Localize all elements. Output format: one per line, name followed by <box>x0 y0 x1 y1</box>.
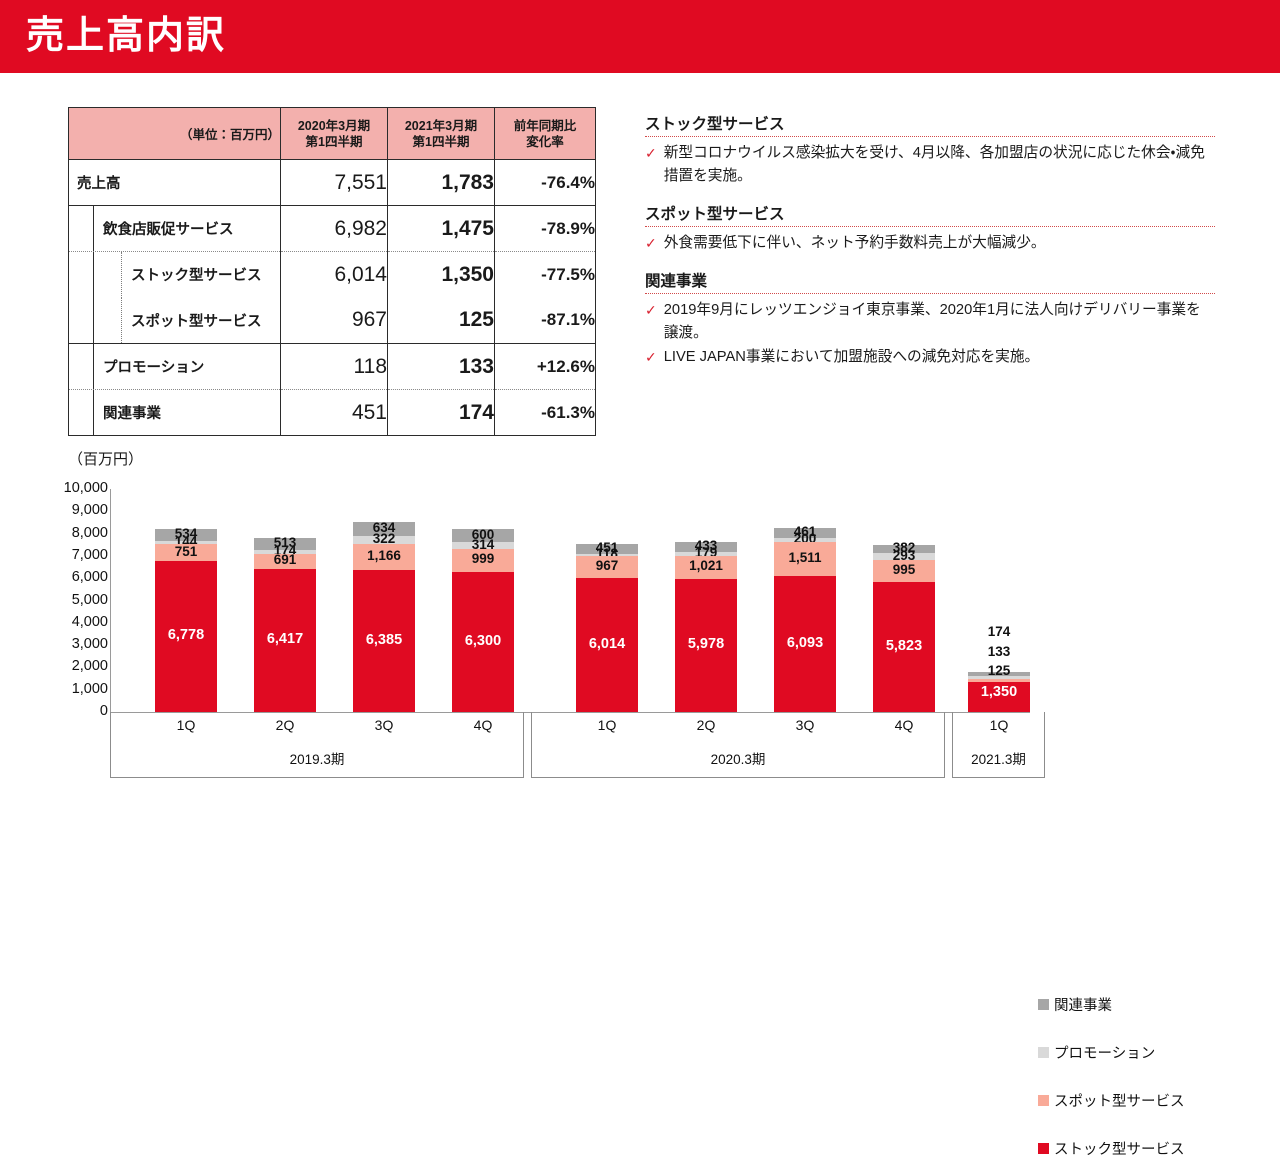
indent-guide-2 <box>121 298 122 344</box>
legend-color-swatch <box>1038 1095 1049 1106</box>
y-axis-tick: 6,000 <box>18 569 108 585</box>
legend-label: プロモーション <box>1054 1042 1155 1063</box>
cell-prev-year: 7,551 <box>281 160 388 206</box>
col-header-line2: 変化率 <box>495 134 595 150</box>
bar-segment: 6,014 <box>576 578 638 712</box>
cell-yoy-change: -61.3% <box>495 390 596 436</box>
bar-value-label: 1,511 <box>774 550 836 565</box>
bar-value-label: 125 <box>968 663 1030 678</box>
bar-segment: 322 <box>353 536 415 543</box>
table-row-label: 飲食店販促サービス <box>69 206 281 252</box>
row-label-text: プロモーション <box>69 356 280 377</box>
cell-yoy-change: -76.4% <box>495 160 596 206</box>
check-icon: ✓ <box>645 142 657 165</box>
cell-yoy-change: -87.1% <box>495 298 596 344</box>
quarter-label: 1Q <box>155 717 217 733</box>
bar-segment: 691 <box>254 554 316 569</box>
legend-color-swatch <box>1038 1047 1049 1058</box>
table-row: スポット型サービス967125-87.1% <box>69 298 596 344</box>
indent-guide-1 <box>93 206 94 251</box>
bar-segment: 751 <box>155 544 217 561</box>
table-row: 飲食店販促サービス6,9821,475-78.9% <box>69 206 596 252</box>
cell-prev-year: 451 <box>281 390 388 436</box>
commentary-block: ストック型サービス✓新型コロナウイルス感染拡大を受け、4月以降、各加盟店の状況に… <box>645 112 1215 188</box>
y-axis-tick: 7,000 <box>18 547 108 563</box>
y-axis-tick: 8,000 <box>18 525 108 541</box>
legend-item[interactable]: 関連事業 <box>1038 980 1185 1028</box>
commentary-heading: 関連事業 <box>645 269 1215 294</box>
bar-segment: 6,300 <box>452 572 514 712</box>
bar-value-label: 999 <box>452 551 514 566</box>
table-row-label: 関連事業 <box>69 390 281 436</box>
legend-label: 関連事業 <box>1054 994 1112 1015</box>
bar-value-label: 691 <box>254 552 316 567</box>
bar-group: 5341447516,778 <box>155 529 217 712</box>
bar-value-label: 751 <box>155 544 217 559</box>
cell-current-year: 1,350 <box>388 252 495 298</box>
table-row: 売上高7,5511,783-76.4% <box>69 160 596 206</box>
commentary-bullet: ✓2019年9月にレッツエンジョイ東京事業、2020年1月に法人向けデリバリー事… <box>645 299 1215 345</box>
cell-current-year: 1,783 <box>388 160 495 206</box>
indent-guide-2 <box>121 252 122 298</box>
commentary-block: スポット型サービス✓外食需要低下に伴い、ネット予約手数料売上が大幅減少。 <box>645 202 1215 255</box>
y-axis-tick: 2,000 <box>18 658 108 674</box>
fiscal-year-label: 2021.3期 <box>952 748 1045 768</box>
col-header-line1: 2021年3月期 <box>388 118 494 134</box>
bar-segment: 314 <box>452 542 514 549</box>
commentary-text: 2019年9月にレッツエンジョイ東京事業、2020年1月に法人向けデリバリー事業… <box>664 299 1215 345</box>
quarter-label: 3Q <box>353 717 415 733</box>
indent-guide-1 <box>93 344 94 389</box>
chart-unit-label: （百万円） <box>68 448 143 469</box>
cell-prev-year: 118 <box>281 344 388 390</box>
cell-prev-year: 6,014 <box>281 252 388 298</box>
legend-color-swatch <box>1038 1143 1049 1154</box>
cell-current-year: 1,475 <box>388 206 495 252</box>
commentary-text: LIVE JAPAN事業において加盟施設への減免対応を実施。 <box>664 346 1215 369</box>
commentary-text: 外食需要低下に伴い、ネット予約手数料売上が大幅減少。 <box>664 232 1215 255</box>
cell-prev-year: 967 <box>281 298 388 344</box>
cell-current-year: 133 <box>388 344 495 390</box>
bar-segment: 1,166 <box>353 544 415 570</box>
bar-group: 6003149996,300 <box>452 529 514 712</box>
table-row: 関連事業451174-61.3% <box>69 390 596 436</box>
bar-value-label: 995 <box>873 562 935 577</box>
bar-value-label: 5,823 <box>873 638 935 654</box>
col-header-line1: 2020年3月期 <box>281 118 387 134</box>
table-row-label: 売上高 <box>69 160 281 206</box>
sales-stacked-bar-chart: （百万円） 10,0009,0008,0007,0006,0005,0004,0… <box>0 440 1280 812</box>
cell-yoy-change: -77.5% <box>495 252 596 298</box>
commentary-heading: ストック型サービス <box>645 112 1215 137</box>
indent-guide-1 <box>93 298 94 344</box>
table-column-header-2: 2021年3月期第1四半期 <box>388 108 495 160</box>
cell-prev-year: 6,982 <box>281 206 388 252</box>
quarter-label: 4Q <box>452 717 514 733</box>
bar-value-label: 6,093 <box>774 635 836 651</box>
indent-guide-1 <box>93 252 94 298</box>
row-label-text: スポット型サービス <box>69 310 280 331</box>
y-axis-tick: 10,000 <box>18 480 108 496</box>
bar-segment: 1,511 <box>774 542 836 576</box>
bar-value-label: 1,166 <box>353 548 415 563</box>
bar-value-label: 5,978 <box>675 636 737 652</box>
bar-value-label: 6,300 <box>452 633 514 649</box>
bar-segment: 995 <box>873 560 935 582</box>
indent-guide-1 <box>93 390 94 435</box>
quarter-label: 4Q <box>873 717 935 733</box>
bar-segment: 967 <box>576 556 638 578</box>
table-row-label: プロモーション <box>69 344 281 390</box>
bar-group: 1741331251,350 <box>968 672 1030 712</box>
commentary-bullet: ✓新型コロナウイルス感染拡大を受け、4月以降、各加盟店の状況に応じた休会・減免措… <box>645 142 1215 188</box>
table-unit-label: （単位：百万円） <box>69 108 281 160</box>
table-row-label: ストック型サービス <box>69 252 281 298</box>
commentary-heading: スポット型サービス <box>645 202 1215 227</box>
bar-group: 5131746916,417 <box>254 538 316 712</box>
bar-segment: 1,021 <box>675 556 737 579</box>
bar-value-label: 6,385 <box>353 632 415 648</box>
y-axis-tick: 0 <box>18 703 108 719</box>
sales-breakdown-table: （単位：百万円）2020年3月期第1四半期2021年3月期第1四半期前年同期比変… <box>68 107 596 436</box>
bar-group: 4331791,0215,978 <box>675 542 737 712</box>
quarter-label: 2Q <box>254 717 316 733</box>
quarter-label: 2Q <box>675 717 737 733</box>
quarter-label: 3Q <box>774 717 836 733</box>
commentary-bullet: ✓外食需要低下に伴い、ネット予約手数料売上が大幅減少。 <box>645 232 1215 255</box>
legend-item[interactable]: スポット型サービス <box>1038 1076 1185 1124</box>
cell-yoy-change: -78.9% <box>495 206 596 252</box>
table-column-header-1: 2020年3月期第1四半期 <box>281 108 388 160</box>
cell-yoy-change: +12.6% <box>495 344 596 390</box>
bar-value-label: 174 <box>968 624 1030 639</box>
y-axis-line <box>110 489 111 712</box>
col-header-line1: 前年同期比 <box>495 118 595 134</box>
legend-item[interactable]: ストック型サービス <box>1038 1124 1185 1172</box>
col-header-line2: 第1四半期 <box>388 134 494 150</box>
bar-value-label: 6,778 <box>155 627 217 643</box>
commentary-text: 新型コロナウイルス感染拡大を受け、4月以降、各加盟店の状況に応じた休会・減免措置… <box>664 142 1215 188</box>
table-row: プロモーション118133+12.6% <box>69 344 596 390</box>
commentary-block: 関連事業✓2019年9月にレッツエンジョイ東京事業、2020年1月に法人向けデリ… <box>645 269 1215 369</box>
row-label-text: 関連事業 <box>69 402 280 423</box>
quarter-label: 1Q <box>576 717 638 733</box>
legend-label: スポット型サービス <box>1054 1090 1185 1111</box>
x-axis-label-band: 2019.3期1Q2Q3Q4Q2020.3期1Q2Q3Q4Q2021.3期1Q <box>110 712 1030 778</box>
row-label-text: 売上高 <box>69 172 280 193</box>
bar-value-label: 967 <box>576 558 638 573</box>
chart-legend: 関連事業プロモーションスポット型サービスストック型サービス <box>1038 980 1185 1172</box>
table-column-header-3: 前年同期比変化率 <box>495 108 596 160</box>
cell-current-year: 174 <box>388 390 495 436</box>
bar-value-label: 133 <box>968 644 1030 659</box>
bar-value-label: 6,014 <box>576 636 638 652</box>
check-icon: ✓ <box>645 346 657 369</box>
row-label-text: 飲食店販促サービス <box>69 218 280 239</box>
bar-group: 4612001,5116,093 <box>774 528 836 712</box>
y-axis-tick: 9,000 <box>18 502 108 518</box>
bar-segment: 6,417 <box>254 569 316 712</box>
bar-segment: 5,823 <box>873 582 935 712</box>
row-label-text: ストック型サービス <box>69 264 280 285</box>
fiscal-year-label: 2019.3期 <box>110 748 524 768</box>
cell-current-year: 125 <box>388 298 495 344</box>
col-header-line2: 第1四半期 <box>281 134 387 150</box>
bar-group: 3822939955,823 <box>873 545 935 712</box>
table-row-label: スポット型サービス <box>69 298 281 344</box>
bar-segment: 6,093 <box>774 576 836 712</box>
fiscal-year-label: 2020.3期 <box>531 748 945 768</box>
quarter-label: 1Q <box>968 717 1030 733</box>
bar-segment: 1,350 <box>968 682 1030 712</box>
bar-value-label: 1,350 <box>968 684 1030 700</box>
y-axis-tick: 4,000 <box>18 614 108 630</box>
bar-segment: 999 <box>452 549 514 571</box>
commentary-panel: ストック型サービス✓新型コロナウイルス感染拡大を受け、4月以降、各加盟店の状況に… <box>645 112 1215 383</box>
bar-value-label: 6,417 <box>254 631 316 647</box>
legend-label: ストック型サービス <box>1054 1138 1185 1159</box>
bar-value-label: 1,021 <box>675 558 737 573</box>
check-icon: ✓ <box>645 299 657 322</box>
y-axis-tick: 5,000 <box>18 592 108 608</box>
table-row: ストック型サービス6,0141,350-77.5% <box>69 252 596 298</box>
bar-group: 4511189676,014 <box>576 544 638 712</box>
y-axis-tick: 1,000 <box>18 681 108 697</box>
bar-segment: 6,385 <box>353 570 415 712</box>
title-banner: 売上高内訳 <box>0 0 1280 73</box>
check-icon: ✓ <box>645 232 657 255</box>
y-axis-tick: 3,000 <box>18 636 108 652</box>
legend-color-swatch <box>1038 999 1049 1010</box>
bar-segment: 5,978 <box>675 579 737 712</box>
page-title: 売上高内訳 <box>26 12 226 60</box>
bar-segment: 6,778 <box>155 561 217 712</box>
bar-group: 6343221,1666,385 <box>353 522 415 712</box>
commentary-bullet: ✓LIVE JAPAN事業において加盟施設への減免対応を実施。 <box>645 346 1215 369</box>
legend-item[interactable]: プロモーション <box>1038 1028 1185 1076</box>
table-header-row: （単位：百万円）2020年3月期第1四半期2021年3月期第1四半期前年同期比変… <box>69 108 596 160</box>
